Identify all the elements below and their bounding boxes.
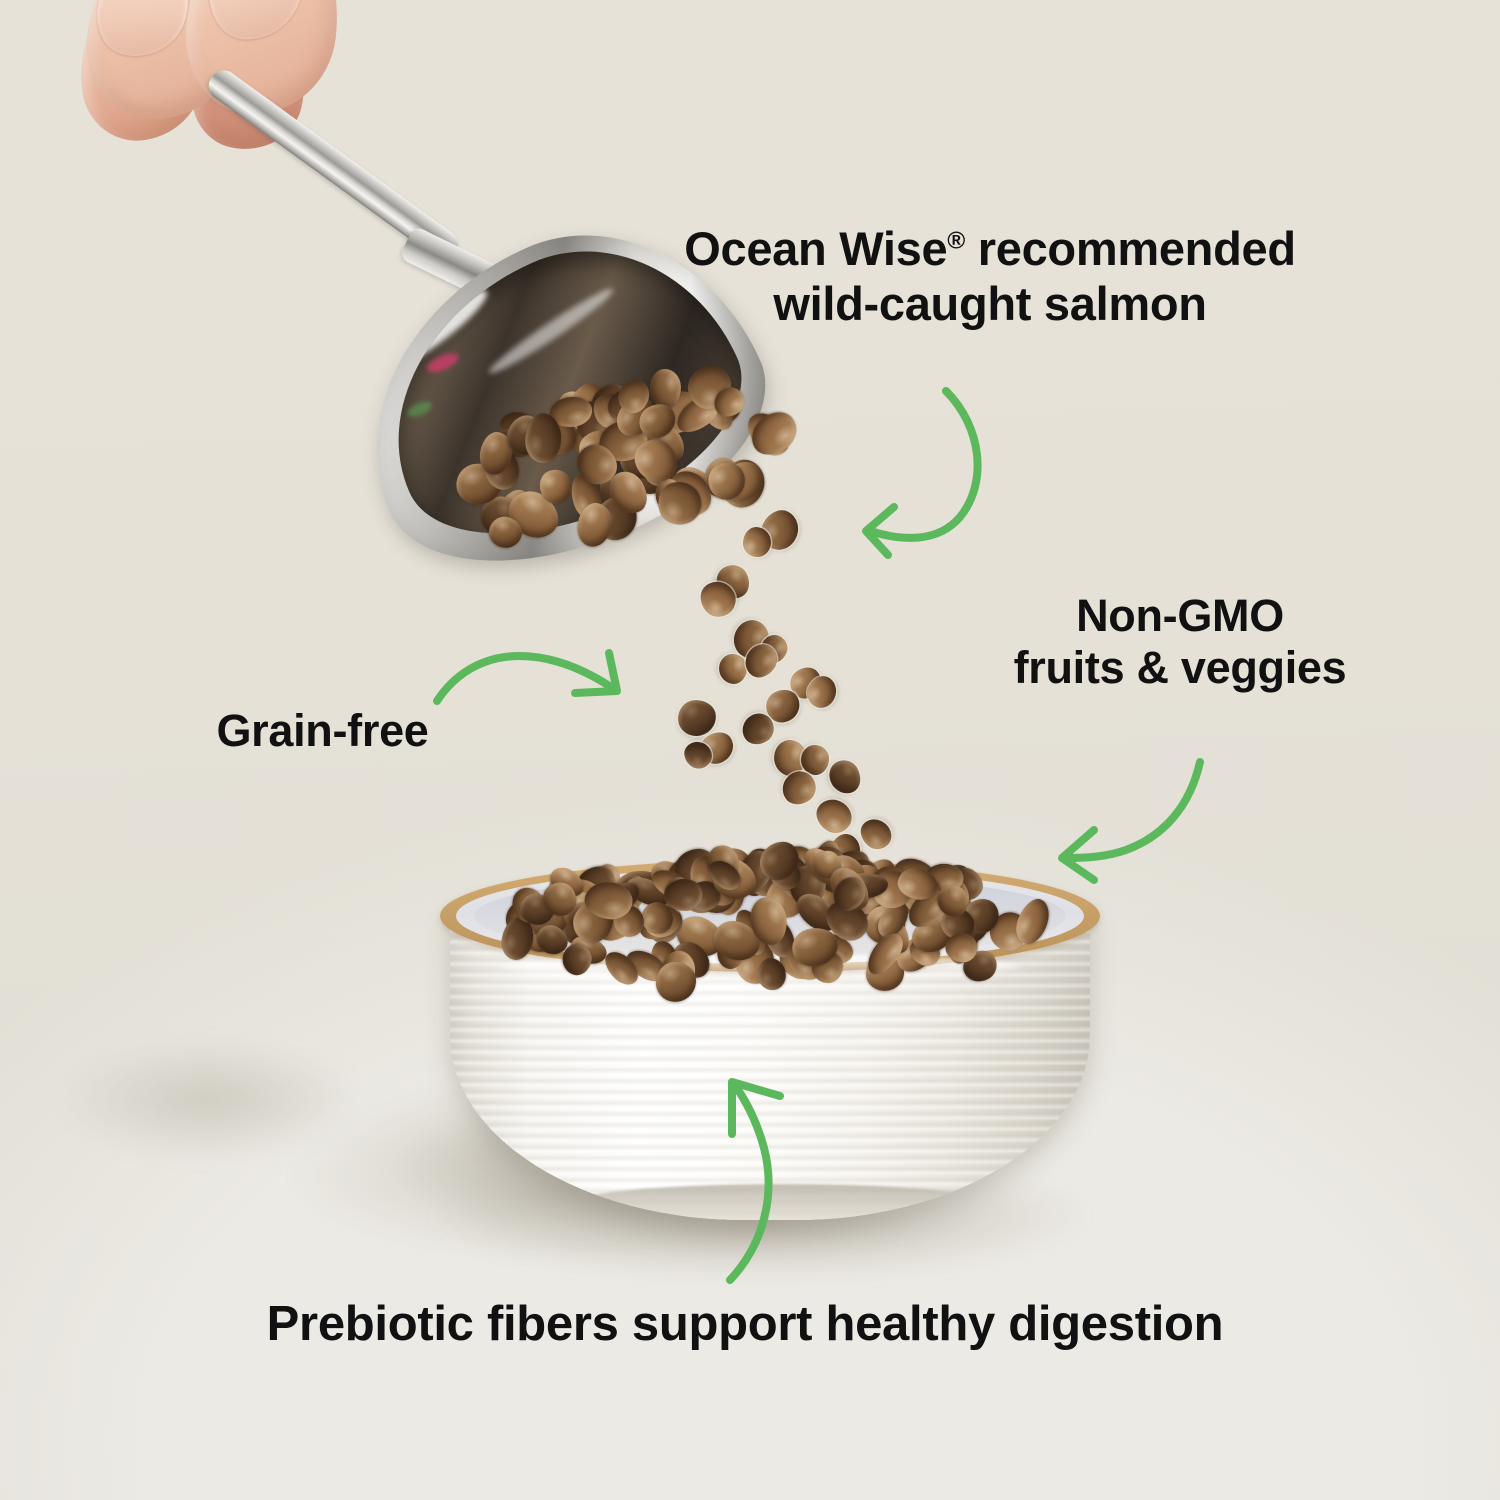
product-infographic-scene: Ocean Wise® recommended wild-caught salm… [0,0,1500,1500]
kibble-piece [810,792,858,839]
callout-prebiotic: Prebiotic fibers support healthy digesti… [120,1296,1370,1353]
callout-ocean-wise: Ocean Wise® recommended wild-caught salm… [560,222,1420,331]
reflection-pink [424,350,461,377]
callout-non-gmo-line2: fruits & veggies [935,642,1425,694]
callout-grain-free: Grain-free [145,705,500,757]
registered-trademark-symbol: ® [947,227,965,254]
arrow-prebiotic [690,1062,830,1292]
kibble-piece [664,878,702,911]
reflection-green [405,398,434,420]
callout-non-gmo: Non-GMO fruits & veggies [935,590,1425,694]
kibble-piece [677,699,717,738]
callout-ocean-wise-line2: wild-caught salmon [560,277,1420,332]
secondary-floor-shadow [60,1040,360,1160]
arrow-ocean-wise [810,365,1030,565]
callout-non-gmo-line1: Non-GMO [935,590,1425,642]
kibble-piece [824,755,866,799]
arrow-non-gmo [1040,758,1270,908]
kibble-piece [650,369,681,409]
callout-ocean-wise-line1: Ocean Wise® recommended [560,222,1420,277]
kibble-piece [719,654,748,685]
hand-holding-scoop [70,0,410,150]
kibble-pile-in-bowl [440,838,1100,998]
